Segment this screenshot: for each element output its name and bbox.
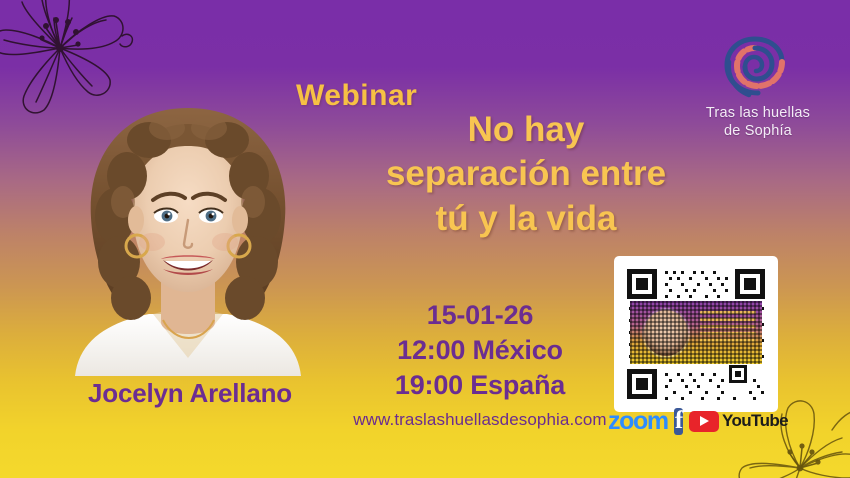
speaker-name: Jocelyn Arellano <box>40 378 340 409</box>
brand-name-line-1: Tras las huellas <box>688 105 828 123</box>
qr-code[interactable] <box>614 256 778 412</box>
title-line-1: No hay <box>330 108 722 152</box>
event-date: 15-01-26 <box>330 298 630 333</box>
youtube-label: YouTube <box>722 411 788 431</box>
youtube-logo-icon[interactable]: YouTube <box>689 411 788 432</box>
youtube-play-icon <box>689 411 719 432</box>
qr-mesh-overlay <box>630 301 762 364</box>
brand-name-line-2: de Sophía <box>688 123 828 141</box>
brand-logo: Tras las huellas de Sophía <box>688 32 828 140</box>
title-line-3: tú y la vida <box>330 197 722 241</box>
title-line-2: separación entre <box>330 152 722 196</box>
webinar-flyer: Webinar No hay separación entre tú y la … <box>0 0 850 478</box>
event-time-mexico: 12:00 México <box>330 333 630 368</box>
platform-logos: zoom YouTube <box>608 407 788 435</box>
schedule-block: 15-01-26 12:00 México 19:00 España <box>330 298 630 403</box>
zoom-logo-icon[interactable]: zoom <box>608 409 668 434</box>
facebook-logo-icon[interactable] <box>674 408 683 435</box>
page-title: No hay separación entre tú y la vida <box>330 108 722 241</box>
speaker-portrait <box>57 96 319 376</box>
event-time-spain: 19:00 España <box>330 368 630 403</box>
spiral-logo-icon <box>719 32 797 102</box>
qr-embedded-image <box>630 301 762 364</box>
brand-name: Tras las huellas de Sophía <box>688 105 828 140</box>
